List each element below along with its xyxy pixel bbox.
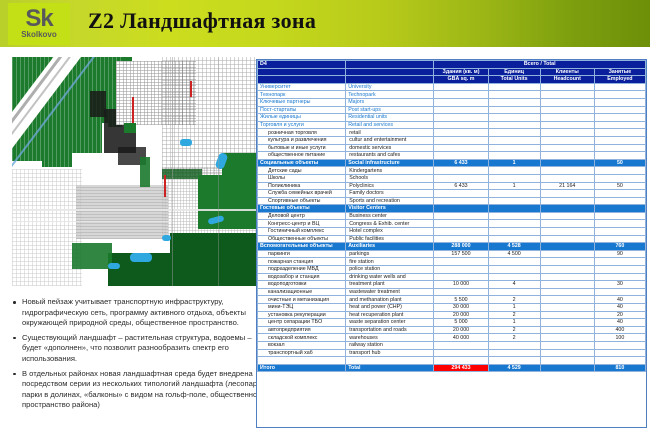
row-label-en: Residential units <box>346 114 434 122</box>
row-employed <box>594 129 645 137</box>
row-employed <box>594 91 645 99</box>
row-gba <box>434 273 488 281</box>
row-headcount <box>540 250 594 258</box>
table-row: ШколыSchools <box>258 174 646 182</box>
row-label-en: University <box>346 83 434 91</box>
bullet-text: В отдельных районах новая ландшафтная ср… <box>22 369 263 410</box>
row-label-en: Public facilities <box>346 235 434 243</box>
row-units <box>488 205 540 213</box>
row-employed: 50 <box>594 182 645 190</box>
row-label-ru: водозабор и станция <box>258 273 346 281</box>
table-row: ТехнопаркTechnopark <box>258 91 646 99</box>
total-units: 4 529 <box>488 364 540 372</box>
row-gba <box>434 136 488 144</box>
spacer-cell <box>346 357 434 365</box>
row-label-en: waste separation center <box>346 319 434 327</box>
row-label-en: domestic services <box>346 144 434 152</box>
row-label-en: Business center <box>346 212 434 220</box>
row-headcount <box>540 205 594 213</box>
table-row: мини-ТЭЦheat and power (CHP)30 000140 <box>258 304 646 312</box>
row-employed <box>594 288 645 296</box>
table-total-row: ИтогоTotal294 4334 529810 <box>258 364 646 372</box>
row-label-ru: мини-ТЭЦ <box>258 304 346 312</box>
row-units: 1 <box>488 182 540 190</box>
row-label-en: fire station <box>346 258 434 266</box>
row-units <box>488 114 540 122</box>
row-units <box>488 273 540 281</box>
table-header-row-ru: Здания (кв. м) Единиц Клиенты Занятые <box>258 68 646 76</box>
row-label-ru: культура и развлечения <box>258 136 346 144</box>
site-plan-image <box>12 57 257 286</box>
row-label-en: police station <box>346 266 434 274</box>
row-label-en: Visitor Centers <box>346 205 434 213</box>
row-label-en: Majors <box>346 98 434 106</box>
row-label-en: railway station <box>346 341 434 349</box>
row-employed <box>594 144 645 152</box>
bullet-text: Существующий ландшафт – растительная стр… <box>22 333 252 363</box>
row-label-en: heat and power (CHP) <box>346 304 434 312</box>
skolkovo-logo: Sk Skolkovo <box>8 3 70 45</box>
row-headcount <box>540 304 594 312</box>
row-label-ru: Поликлиника <box>258 182 346 190</box>
row-headcount <box>540 114 594 122</box>
row-label-en: Hotel complex <box>346 228 434 236</box>
row-units <box>488 144 540 152</box>
table-row: Вспомогательные объектыAuxiliaries288 00… <box>258 243 646 251</box>
row-units: 1 <box>488 304 540 312</box>
table-header-row-code: D4 Всего / Total <box>258 61 646 69</box>
row-units: 1 <box>488 159 540 167</box>
row-headcount <box>540 235 594 243</box>
table-header-row-en: GBA sq. m Total Units Headcount Employed <box>258 76 646 84</box>
row-employed: 50 <box>594 159 645 167</box>
header-ru-units: Единиц <box>488 68 540 76</box>
row-gba: 30 000 <box>434 304 488 312</box>
row-label-ru: Школы <box>258 174 346 182</box>
row-gba: 10 000 <box>434 281 488 289</box>
row-units <box>488 341 540 349</box>
row-units <box>488 220 540 228</box>
row-employed <box>594 258 645 266</box>
row-label-ru: пожарная станция <box>258 258 346 266</box>
row-headcount: 21 164 <box>540 182 594 190</box>
table-row: Общественные объектыPublic facilities <box>258 235 646 243</box>
row-employed <box>594 152 645 160</box>
row-employed <box>594 228 645 236</box>
row-units <box>488 136 540 144</box>
row-label-en: Family doctors <box>346 190 434 198</box>
row-gba <box>434 121 488 129</box>
table-row: Детские садыKindergartens <box>258 167 646 175</box>
row-headcount <box>540 288 594 296</box>
row-label-ru: Гостевые объекты <box>258 205 346 213</box>
row-gba <box>434 167 488 175</box>
row-label-en: cultur and entertainment <box>346 136 434 144</box>
row-gba: 20 000 <box>434 311 488 319</box>
header-ru-0 <box>258 68 346 76</box>
bullet-text: Новый пейзаж учитывает транспортную инфр… <box>22 297 246 327</box>
spacer-cell <box>540 357 594 365</box>
table-row: Жилые единицыResidential units <box>258 114 646 122</box>
table-code-cell: D4 <box>258 61 346 69</box>
table-row: складской комплексwarehouses40 0002100 <box>258 334 646 342</box>
row-label-ru: водоподготовки <box>258 281 346 289</box>
row-label-en: wastewater treatment <box>346 288 434 296</box>
row-headcount <box>540 129 594 137</box>
table-row: транспортный хабtransport hub <box>258 349 646 357</box>
row-employed: 40 <box>594 304 645 312</box>
header-en-0 <box>258 76 346 84</box>
total-gba: 294 433 <box>434 364 488 372</box>
table-row: Деловой центрBusiness center <box>258 212 646 220</box>
table-row: водоподготовкиtreatment plant10 000430 <box>258 281 646 289</box>
header-en-headcount: Headcount <box>540 76 594 84</box>
row-employed: 100 <box>594 334 645 342</box>
row-label-en: Technopark <box>346 91 434 99</box>
row-employed <box>594 190 645 198</box>
row-employed <box>594 197 645 205</box>
row-employed <box>594 136 645 144</box>
row-headcount <box>540 220 594 228</box>
row-gba <box>434 129 488 137</box>
row-gba <box>434 266 488 274</box>
row-label-ru: Пост-стартапы <box>258 106 346 114</box>
table-row: установка рекуперацииheat recuperation p… <box>258 311 646 319</box>
row-label-ru: Гостиничный комплекс <box>258 228 346 236</box>
table-row: пожарная станцияfire station <box>258 258 646 266</box>
table-row: центр сепарации ТБОwaste separation cent… <box>258 319 646 327</box>
row-units <box>488 228 540 236</box>
row-label-ru: Вспомогательные объекты <box>258 243 346 251</box>
row-units <box>488 91 540 99</box>
list-item: Новый пейзаж учитывает транспортную инфр… <box>10 297 272 329</box>
row-label-en: warehouses <box>346 334 434 342</box>
row-headcount <box>540 167 594 175</box>
table-row: водозабор и станцияdrinking water wells … <box>258 273 646 281</box>
row-label-ru: розничная торговля <box>258 129 346 137</box>
row-units <box>488 235 540 243</box>
row-headcount <box>540 281 594 289</box>
row-employed <box>594 106 645 114</box>
row-label-en: and methanation plant <box>346 296 434 304</box>
row-units <box>488 174 540 182</box>
total-headcount <box>540 364 594 372</box>
row-gba <box>434 190 488 198</box>
row-headcount <box>540 326 594 334</box>
row-label-ru: Общественные объекты <box>258 235 346 243</box>
row-label-en: Kindergartens <box>346 167 434 175</box>
row-gba: 5 000 <box>434 319 488 327</box>
header-en-1 <box>346 76 434 84</box>
row-gba <box>434 288 488 296</box>
row-employed: 400 <box>594 326 645 334</box>
table-row: подразделение МВДpolice station <box>258 266 646 274</box>
row-label-ru: центр сепарации ТБО <box>258 319 346 327</box>
header-en-units: Total Units <box>488 76 540 84</box>
row-headcount <box>540 243 594 251</box>
row-employed <box>594 114 645 122</box>
row-units: 2 <box>488 296 540 304</box>
row-headcount <box>540 174 594 182</box>
row-units <box>488 167 540 175</box>
row-headcount <box>540 190 594 198</box>
row-label-ru: Спортивные объекты <box>258 197 346 205</box>
table-row: очистные и метанизацияand methanation pl… <box>258 296 646 304</box>
row-units: 4 500 <box>488 250 540 258</box>
row-units <box>488 121 540 129</box>
row-headcount <box>540 144 594 152</box>
row-gba <box>434 349 488 357</box>
row-label-ru: вокзал <box>258 341 346 349</box>
table-row: ПоликлиникаPolyclinics6 433121 16450 <box>258 182 646 190</box>
row-gba <box>434 258 488 266</box>
row-units <box>488 349 540 357</box>
row-headcount <box>540 296 594 304</box>
row-employed <box>594 349 645 357</box>
bullet-list: Новый пейзаж учитывает транспортную инфр… <box>10 297 272 415</box>
table-group-header: Всего / Total <box>434 61 646 69</box>
row-label-en: retail <box>346 129 434 137</box>
row-label-ru: Ключевые партнеры <box>258 98 346 106</box>
row-employed <box>594 235 645 243</box>
row-label-en: treatment plant <box>346 281 434 289</box>
bullet-dot-icon <box>13 337 16 340</box>
programme-table: D4 Всего / Total Здания (кв. м) Единиц К… <box>256 59 647 428</box>
row-employed <box>594 220 645 228</box>
row-label-en: restaurants and cafes <box>346 152 434 160</box>
row-headcount <box>540 136 594 144</box>
row-employed <box>594 205 645 213</box>
row-label-ru: общественное питание <box>258 152 346 160</box>
row-headcount <box>540 311 594 319</box>
row-label-ru: Служба семейных врачей <box>258 190 346 198</box>
header-ru-gba: Здания (кв. м) <box>434 68 488 76</box>
row-gba <box>434 197 488 205</box>
row-employed <box>594 121 645 129</box>
row-units <box>488 83 540 91</box>
row-label-ru: бытовые и иные услуги <box>258 144 346 152</box>
bullet-dot-icon <box>13 373 16 376</box>
row-label-en: Post start-ups <box>346 106 434 114</box>
row-gba: 20 000 <box>434 326 488 334</box>
row-employed: 20 <box>594 311 645 319</box>
row-label-ru: Детские сады <box>258 167 346 175</box>
row-gba: 157 500 <box>434 250 488 258</box>
logo-mark-text: Sk <box>25 5 52 32</box>
row-headcount <box>540 258 594 266</box>
row-gba <box>434 152 488 160</box>
page-title: Z2 Ландшафтная зона <box>88 8 316 34</box>
row-label-ru: Технопарк <box>258 91 346 99</box>
row-units <box>488 212 540 220</box>
table-row: паркингиparkings157 5004 50090 <box>258 250 646 258</box>
row-label-en: Schools <box>346 174 434 182</box>
row-employed <box>594 83 645 91</box>
spacer-cell <box>488 357 540 365</box>
row-employed <box>594 266 645 274</box>
header-en-employed: Employed <box>594 76 645 84</box>
row-employed <box>594 98 645 106</box>
bullet-dot-icon <box>13 301 16 304</box>
row-label-en: parkings <box>346 250 434 258</box>
table-row: Социальные объектыSocial infrastructure6… <box>258 159 646 167</box>
row-gba <box>434 144 488 152</box>
row-label-en: transportation and roads <box>346 326 434 334</box>
row-gba <box>434 205 488 213</box>
row-label-ru: Деловой центр <box>258 212 346 220</box>
row-gba <box>434 106 488 114</box>
row-units: 2 <box>488 311 540 319</box>
table-row: автопредприятияtransportation and roads2… <box>258 326 646 334</box>
row-headcount <box>540 334 594 342</box>
row-label-ru: паркинги <box>258 250 346 258</box>
table-header-blank <box>346 61 434 69</box>
row-headcount <box>540 83 594 91</box>
row-employed: 90 <box>594 250 645 258</box>
row-label-ru: транспортный хаб <box>258 349 346 357</box>
row-units <box>488 106 540 114</box>
spacer-cell <box>594 357 645 365</box>
row-headcount <box>540 197 594 205</box>
row-label-en: Retail and services <box>346 121 434 129</box>
row-units <box>488 190 540 198</box>
row-headcount <box>540 266 594 274</box>
row-label-ru: подразделение МВД <box>258 266 346 274</box>
logo-mark: Sk <box>25 8 52 30</box>
row-headcount <box>540 91 594 99</box>
header-ru-headcount: Клиенты <box>540 68 594 76</box>
row-units <box>488 98 540 106</box>
table-row: канализационныеwastewater treatment <box>258 288 646 296</box>
row-headcount <box>540 212 594 220</box>
map-canvas <box>12 57 257 286</box>
table: D4 Всего / Total Здания (кв. м) Единиц К… <box>257 60 646 372</box>
row-label-en: transport hub <box>346 349 434 357</box>
row-gba <box>434 212 488 220</box>
row-headcount <box>540 106 594 114</box>
row-gba <box>434 228 488 236</box>
row-label-en: Congress & Exhib. center <box>346 220 434 228</box>
row-gba: 40 000 <box>434 334 488 342</box>
row-label-ru: Социальные объекты <box>258 159 346 167</box>
title-band: Sk Skolkovo Z2 Ландшафтная зона <box>0 0 650 47</box>
spacer-cell <box>258 357 346 365</box>
list-item: В отдельных районах новая ландшафтная ср… <box>10 369 272 411</box>
row-label-en: Auxiliaries <box>346 243 434 251</box>
row-employed: 40 <box>594 319 645 327</box>
row-headcount <box>540 349 594 357</box>
row-label-ru: Торговля и услуги <box>258 121 346 129</box>
row-headcount <box>540 121 594 129</box>
table-spacer-row <box>258 357 646 365</box>
row-label-ru: Жилые единицы <box>258 114 346 122</box>
row-label-ru: очистные и метанизация <box>258 296 346 304</box>
row-employed <box>594 174 645 182</box>
total-label-ru: Итого <box>258 364 346 372</box>
row-gba <box>434 220 488 228</box>
row-label-en: drinking water wells and <box>346 273 434 281</box>
table-row: культура и развлеченияcultur and enterta… <box>258 136 646 144</box>
list-item: Существующий ландшафт – растительная стр… <box>10 333 272 365</box>
row-gba <box>434 98 488 106</box>
table-row: розничная торговляretail <box>258 129 646 137</box>
total-label-en: Total <box>346 364 434 372</box>
row-gba <box>434 83 488 91</box>
row-headcount <box>540 152 594 160</box>
row-headcount <box>540 98 594 106</box>
row-label-en: Sports and recreation <box>346 197 434 205</box>
row-gba <box>434 91 488 99</box>
row-units: 4 528 <box>488 243 540 251</box>
row-units <box>488 266 540 274</box>
row-employed <box>594 212 645 220</box>
row-employed <box>594 167 645 175</box>
row-headcount <box>540 159 594 167</box>
row-employed: 760 <box>594 243 645 251</box>
row-units <box>488 197 540 205</box>
row-employed: 40 <box>594 296 645 304</box>
row-label-en: Polyclinics <box>346 182 434 190</box>
table-row: Конгресс-центр и ВЦCongress & Exhib. cen… <box>258 220 646 228</box>
row-label-ru: складской комплекс <box>258 334 346 342</box>
table-row: Торговля и услугиRetail and services <box>258 121 646 129</box>
spacer-cell <box>434 357 488 365</box>
table-row: Гостиничный комплексHotel complex <box>258 228 646 236</box>
row-units <box>488 288 540 296</box>
row-gba: 5 500 <box>434 296 488 304</box>
row-employed: 30 <box>594 281 645 289</box>
table-row: Пост-стартапыPost start-ups <box>258 106 646 114</box>
row-label-ru: Конгресс-центр и ВЦ <box>258 220 346 228</box>
row-label-ru: автопредприятия <box>258 326 346 334</box>
row-gba: 6 433 <box>434 159 488 167</box>
row-gba <box>434 235 488 243</box>
total-employed: 810 <box>594 364 645 372</box>
row-label-ru: канализационные <box>258 288 346 296</box>
row-gba <box>434 174 488 182</box>
row-units <box>488 129 540 137</box>
table-row: вокзалrailway station <box>258 341 646 349</box>
table-row: Служба семейных врачейFamily doctors <box>258 190 646 198</box>
row-label-en: heat recuperation plant <box>346 311 434 319</box>
row-label-ru: установка рекуперации <box>258 311 346 319</box>
table-row: Ключевые партнерыMajors <box>258 98 646 106</box>
header-ru-employed: Занятые <box>594 68 645 76</box>
table-row: Гостевые объектыVisitor Centers <box>258 205 646 213</box>
row-headcount <box>540 273 594 281</box>
row-headcount <box>540 341 594 349</box>
row-units <box>488 152 540 160</box>
row-gba: 288 000 <box>434 243 488 251</box>
row-gba <box>434 114 488 122</box>
table-row: бытовые и иные услугиdomestic services <box>258 144 646 152</box>
table-row: УниверситетUniversity <box>258 83 646 91</box>
row-headcount <box>540 228 594 236</box>
row-units <box>488 258 540 266</box>
row-units: 4 <box>488 281 540 289</box>
table-row: общественное питаниеrestaurants and cafe… <box>258 152 646 160</box>
table-row: Спортивные объектыSports and recreation <box>258 197 646 205</box>
row-headcount <box>540 319 594 327</box>
row-employed <box>594 273 645 281</box>
slide-root: Sk Skolkovo Z2 Ландшафтная зона <box>0 0 650 435</box>
header-ru-1 <box>346 68 434 76</box>
row-label-en: Social infrastructure <box>346 159 434 167</box>
row-gba: 6 433 <box>434 182 488 190</box>
row-units: 2 <box>488 326 540 334</box>
row-units: 1 <box>488 319 540 327</box>
row-label-ru: Университет <box>258 83 346 91</box>
